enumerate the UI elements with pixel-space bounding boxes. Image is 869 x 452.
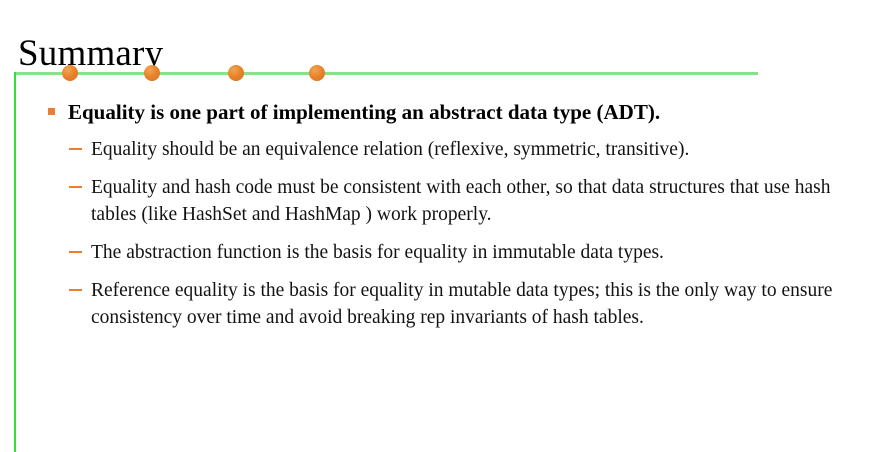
list-item: The abstraction function is the basis fo…	[0, 239, 869, 266]
list-item: Equality and hash code must be consisten…	[0, 174, 869, 228]
square-bullet-icon	[48, 108, 55, 115]
list-item: Equality is one part of implementing an …	[0, 98, 869, 127]
presentation-slide: Summary Equality is one part of implemen…	[0, 0, 869, 452]
list-item-label: Reference equality is the basis for equa…	[91, 277, 839, 331]
dash-bullet-icon	[69, 148, 82, 150]
list-item-label: Equality should be an equivalence relati…	[91, 136, 839, 163]
list-item-label: Equality is one part of implementing an …	[68, 100, 660, 124]
rule-dot-icon	[228, 65, 244, 81]
list-item: Reference equality is the basis for equa…	[0, 277, 869, 331]
dash-bullet-icon	[69, 186, 82, 188]
list-item: Equality should be an equivalence relati…	[0, 136, 869, 163]
slide-body: Equality is one part of implementing an …	[0, 98, 869, 342]
rule-dot-icon	[309, 65, 325, 81]
dash-bullet-icon	[69, 289, 82, 291]
page-title: Summary	[18, 32, 163, 76]
list-item-label: Equality and hash code must be consisten…	[91, 174, 839, 228]
dash-bullet-icon	[69, 251, 82, 253]
list-item-label: The abstraction function is the basis fo…	[91, 239, 839, 266]
